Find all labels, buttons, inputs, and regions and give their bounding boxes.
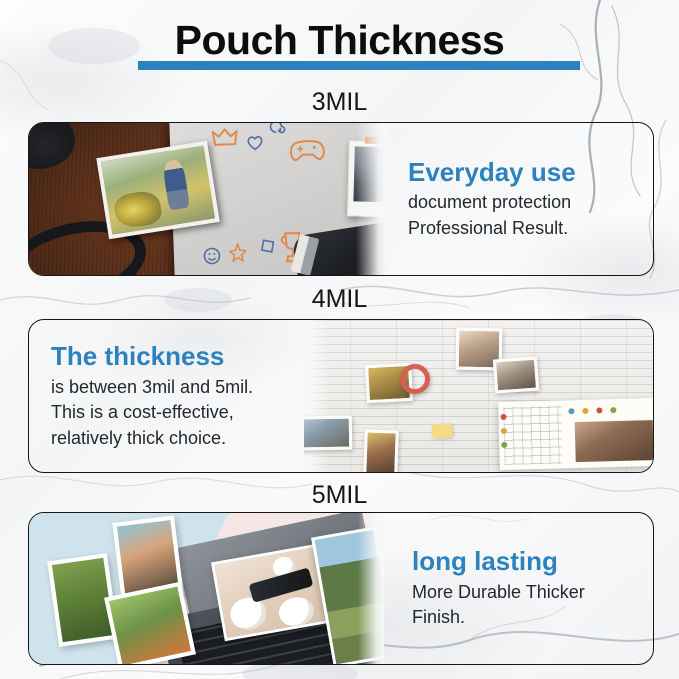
- calendar-dot: [500, 414, 506, 420]
- calendar-dot: [610, 407, 616, 413]
- media-edge-fade: [358, 513, 384, 664]
- wall-photo-couple: [493, 357, 539, 394]
- section-panel-3mil: Everyday use document protection Profess…: [28, 122, 654, 276]
- crown-doodle-icon: [212, 127, 239, 153]
- red-magnet: [400, 364, 430, 394]
- section-headline-3mil: Everyday use: [408, 157, 653, 188]
- wall-photo-group: [304, 416, 352, 451]
- section-body-line: relatively thick choice.: [51, 426, 304, 452]
- calendar-group-photo: [575, 420, 653, 462]
- plate-shape: [276, 594, 316, 629]
- section-body-line: document protection: [408, 190, 653, 216]
- media-wooden-desk-scrapbook: [29, 123, 386, 275]
- photo-family-outdoors: [104, 582, 196, 664]
- page-title: Pouch Thickness: [0, 12, 679, 68]
- media-photo-wall: [304, 320, 653, 472]
- wall-photo-phone-held: [363, 429, 399, 472]
- heart-doodle-icon: [246, 134, 265, 156]
- page-title-text: Pouch Thickness: [175, 17, 505, 63]
- section-headline-4mil: The thickness: [51, 341, 304, 372]
- plate-shape: [228, 595, 269, 632]
- section-body-line: is between 3mil and 5mil.: [51, 375, 304, 401]
- section-body-line: This is a cost-effective,: [51, 400, 304, 426]
- section-label-3mil: 3MIL: [0, 88, 679, 117]
- media-edge-fade: [356, 123, 386, 275]
- section-text-5mil: long lasting More Durable Thicker Finish…: [384, 513, 653, 664]
- section-body-line: Professional Result.: [408, 216, 653, 242]
- photo-child-gardening: [96, 141, 219, 240]
- section-label-5mil: 5MIL: [0, 481, 679, 510]
- mouse-shape: [29, 123, 75, 169]
- section-body-line: More Durable Thicker: [412, 580, 653, 606]
- scrapbook-calendar-page: [498, 398, 653, 470]
- section-headline-5mil: long lasting: [412, 546, 653, 577]
- infographic-page: Pouch Thickness 3MIL: [0, 0, 679, 679]
- media-pastel-desk-laptop: [29, 513, 384, 664]
- section-label-4mil: 4MIL: [0, 285, 679, 314]
- diamond-doodle-icon: [259, 238, 276, 260]
- spiral-doodle-icon: [269, 123, 290, 145]
- section-text-3mil: Everyday use document protection Profess…: [386, 123, 653, 275]
- game-controller-doodle-icon: [288, 136, 327, 168]
- calendar-grid: [503, 405, 562, 464]
- calendar-dot: [596, 407, 602, 413]
- section-panel-4mil: The thickness is between 3mil and 5mil. …: [28, 319, 654, 473]
- star-doodle-icon: [228, 243, 249, 269]
- section-text-4mil: The thickness is between 3mil and 5mil. …: [29, 320, 304, 472]
- calendar-dot: [582, 408, 588, 414]
- smiley-doodle-icon: [202, 246, 223, 272]
- sticky-note: [432, 424, 452, 439]
- section-panel-5mil: long lasting More Durable Thicker Finish…: [28, 512, 654, 665]
- section-body-line: Finish.: [412, 605, 653, 631]
- calendar-dot: [568, 408, 574, 414]
